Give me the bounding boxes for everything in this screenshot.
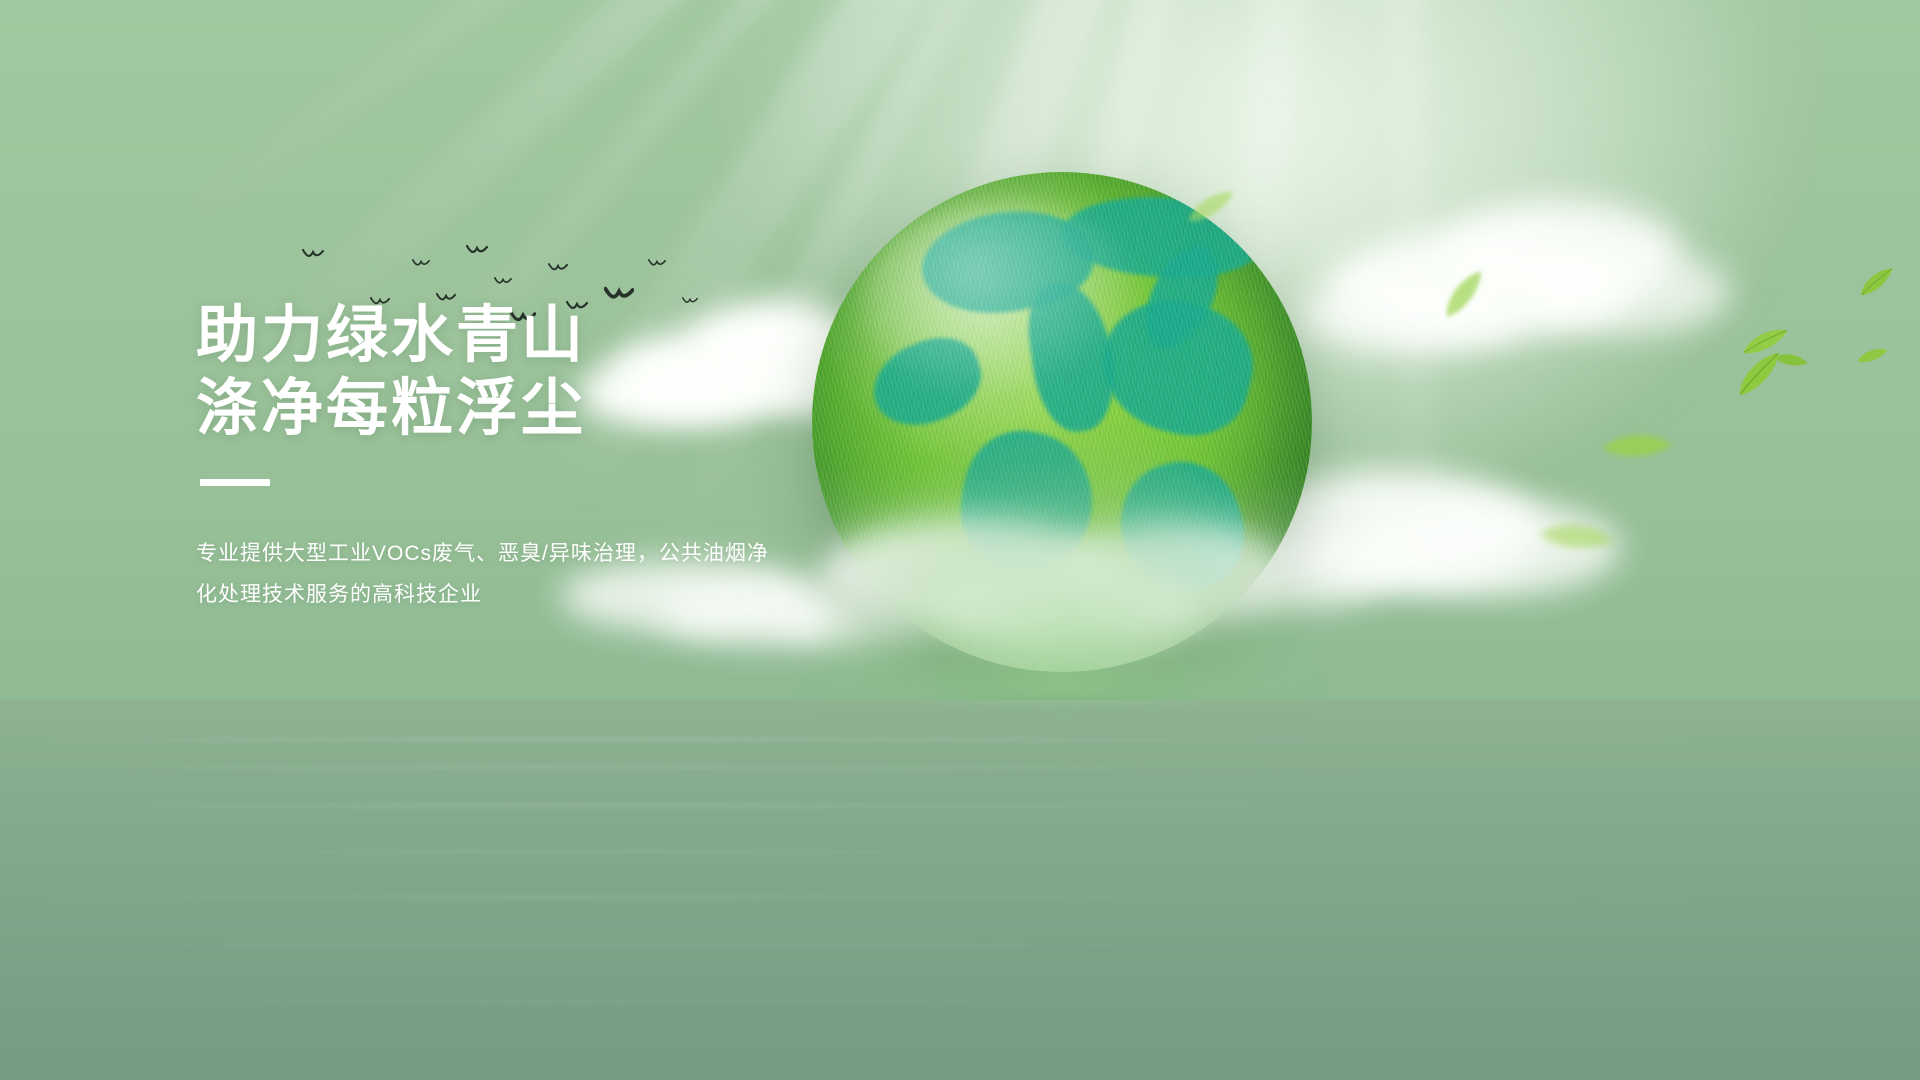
bird-icon <box>648 258 666 270</box>
bird-icon <box>302 248 324 262</box>
bird-icon <box>466 244 488 258</box>
leaf-icon <box>1855 346 1892 372</box>
divider-rule <box>200 479 270 486</box>
water-surface <box>0 700 1920 1080</box>
headline-line-2: 涤净每粒浮尘 <box>196 373 956 446</box>
hero-banner: 助力绿水青山 涤净每粒浮尘 专业提供大型工业VOCs废气、恶臭/异味治理，公共油… <box>0 0 1920 1080</box>
bird-icon <box>494 276 512 288</box>
headline-line-1: 助力绿水青山 <box>196 300 956 373</box>
leaf-icon <box>1853 263 1904 306</box>
description-line-2: 化处理技术服务的高科技企业 <box>196 575 956 616</box>
bird-icon <box>412 258 430 270</box>
bird-icon <box>548 262 568 275</box>
hero-copy: 助力绿水青山 涤净每粒浮尘 专业提供大型工业VOCs废气、恶臭/异味治理，公共油… <box>196 300 956 616</box>
description-line-1: 专业提供大型工业VOCs废气、恶臭/异味治理，公共油烟净 <box>196 534 956 575</box>
